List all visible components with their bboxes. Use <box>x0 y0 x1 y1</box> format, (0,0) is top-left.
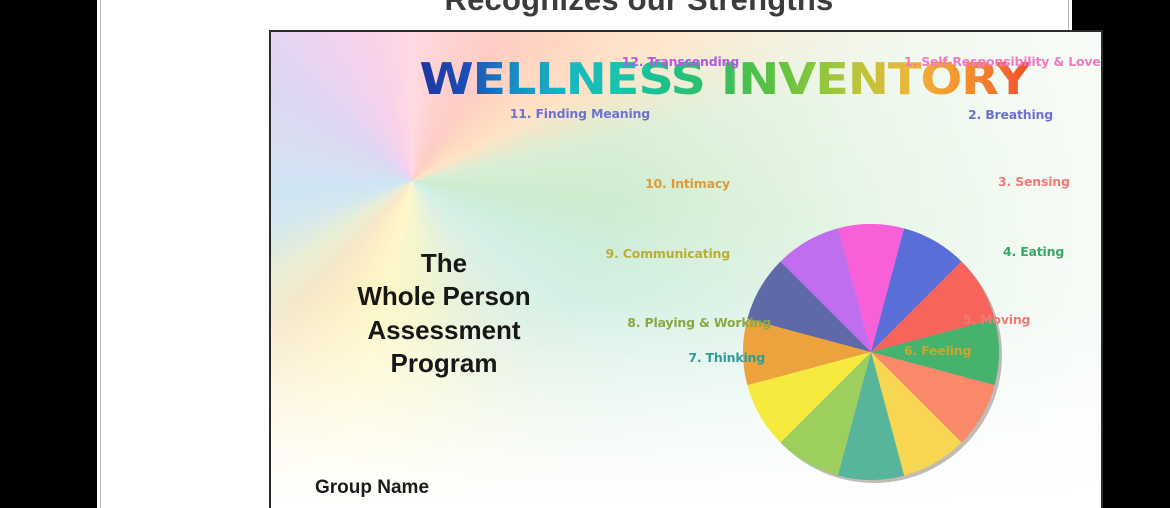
screen: Recognizes our Strengths WELLNESS INVENT… <box>0 0 1170 508</box>
page-left-edge <box>100 0 101 508</box>
page-title: Recognizes our Strengths <box>209 0 1069 18</box>
wheel-label-1: 1. Self-Responsibility & Love <box>904 54 1101 69</box>
wheel-label-4: 4. Eating <box>1003 244 1064 259</box>
program-title-line-4: Program <box>299 347 589 380</box>
wheel-label-5: 5. Moving <box>963 312 1030 327</box>
program-title-line-2: Whole Person <box>299 280 589 313</box>
program-title: The Whole Person Assessment Program <box>299 247 589 380</box>
wheel-label-7: 7. Thinking <box>688 350 765 365</box>
wheel-label-11: 11. Finding Meaning <box>510 106 650 121</box>
group-name-label: Group Name <box>315 477 429 499</box>
wheel-label-10: 10. Intimacy <box>645 176 730 191</box>
wellness-wheel-svg <box>701 182 1041 508</box>
wheel-label-2: 2. Breathing <box>968 107 1053 122</box>
document-page: Recognizes our Strengths WELLNESS INVENT… <box>97 0 1072 508</box>
wheel-label-8: 8. Playing & Working <box>627 315 771 330</box>
wheel-label-3: 3. Sensing <box>998 174 1070 189</box>
wellness-wheel-chart <box>701 182 1041 508</box>
program-title-line-1: The <box>299 247 589 280</box>
wheel-label-6: 6. Feeling <box>904 343 971 358</box>
wellness-inventory-slide: WELLNESS INVENTORY The Whole Person Asse… <box>269 30 1103 508</box>
wheel-label-9: 9. Communicating <box>606 246 730 261</box>
program-title-line-3: Assessment <box>299 314 589 347</box>
wheel-label-12: 12. Transcending <box>622 54 739 69</box>
